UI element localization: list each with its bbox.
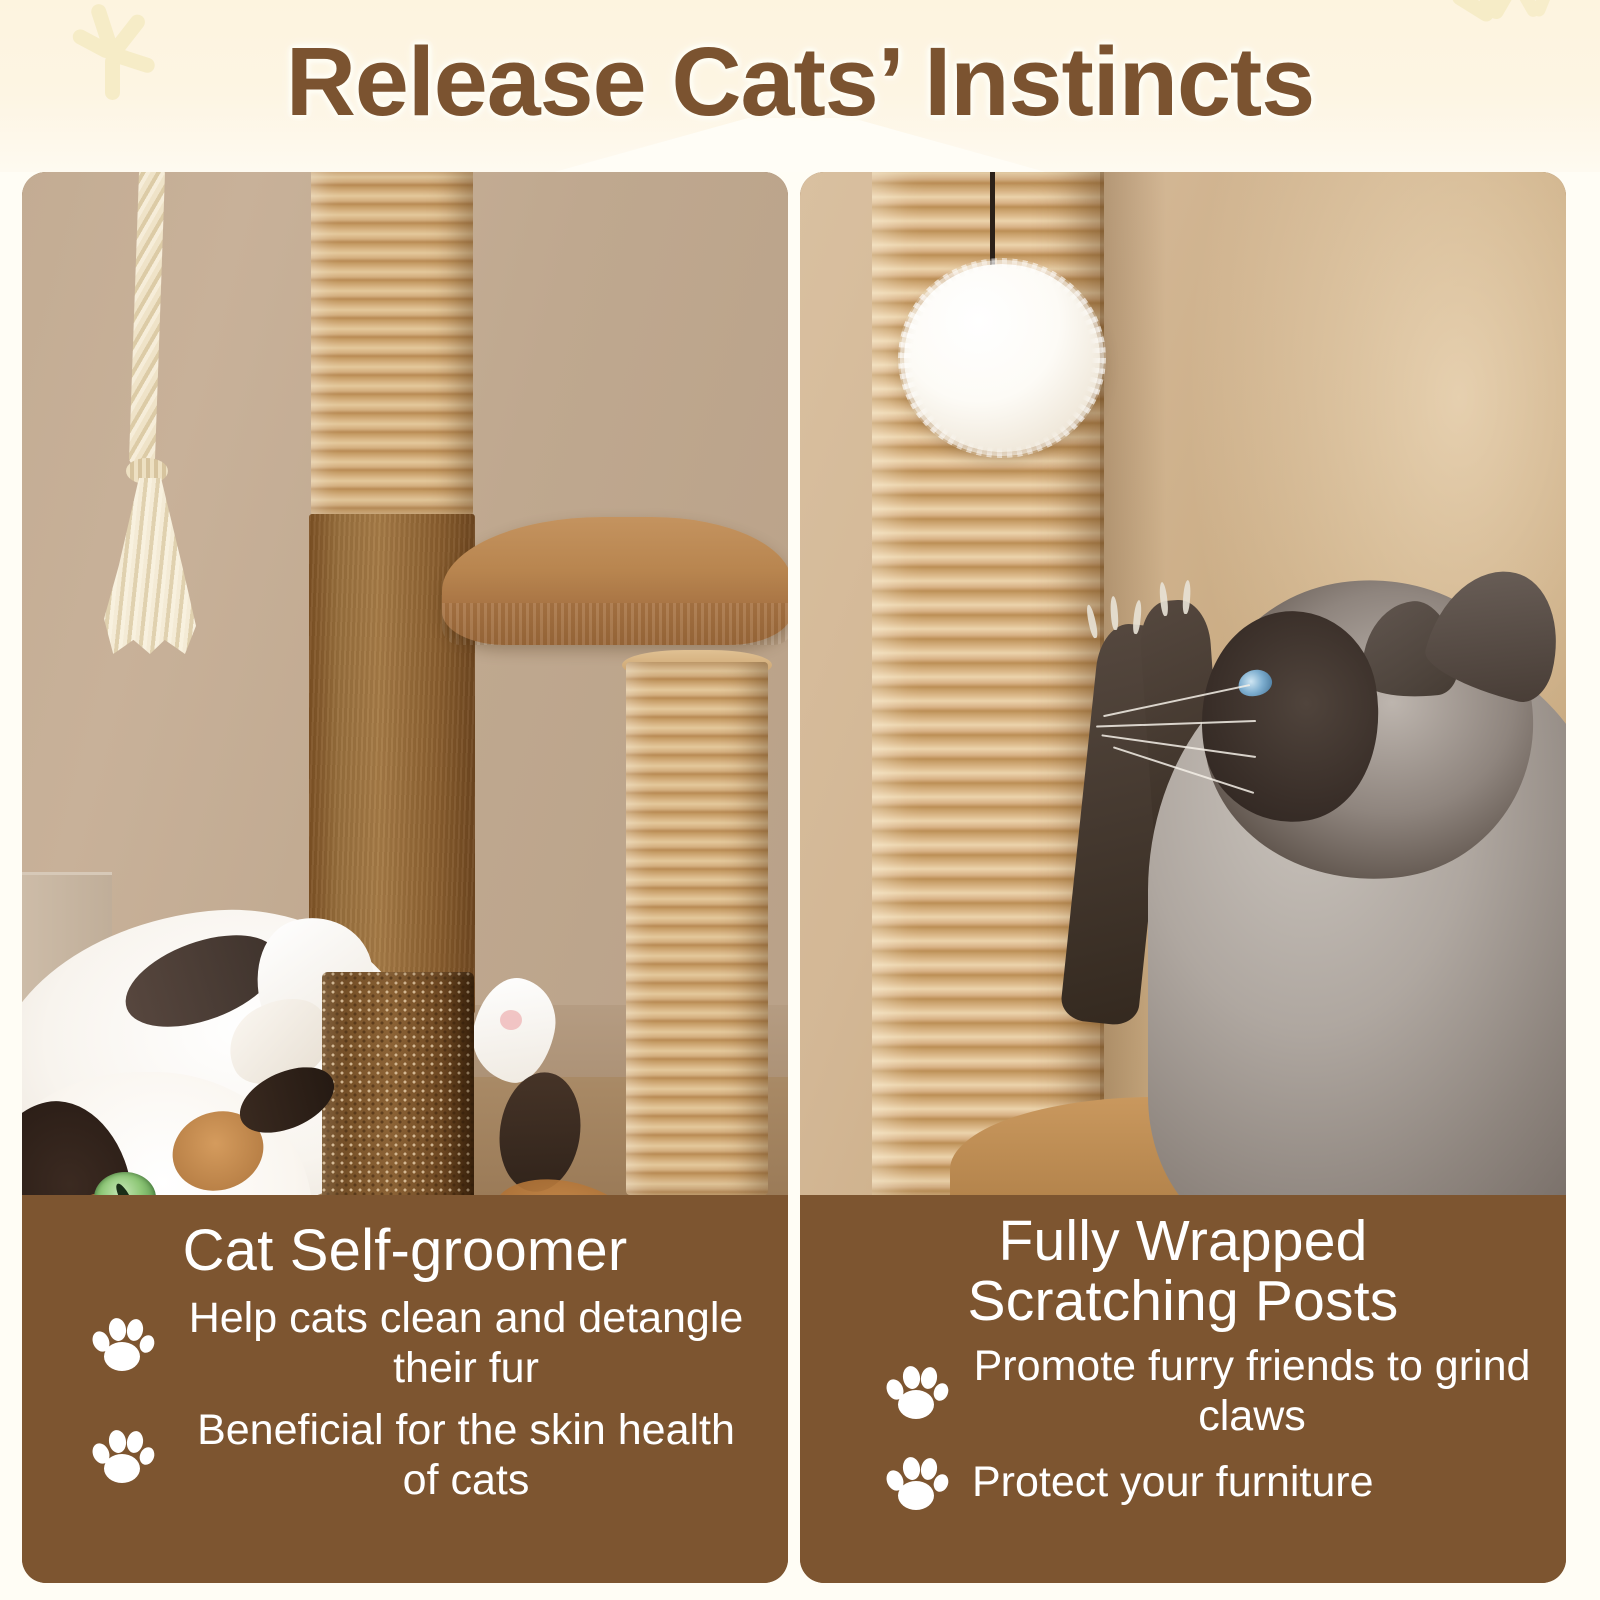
product-feature-banner: Release Cats’ Instincts: [0, 0, 1600, 1600]
sisal-post-upper: [311, 172, 473, 516]
caption-scratching-posts: Fully Wrapped Scratching Posts Promote f…: [800, 1195, 1566, 1583]
feature-panel-scratching-posts: Fully Wrapped Scratching Posts Promote f…: [800, 172, 1566, 1583]
paw-icon: [92, 1426, 152, 1484]
bullet-text: Help cats clean and detangle their fur: [178, 1293, 754, 1393]
photo-cat-self-groomer: [22, 172, 788, 1195]
caption-title: Cat Self-groomer: [22, 1195, 788, 1283]
bullet-text: Protect your furniture: [972, 1457, 1532, 1507]
paw-icon: [886, 1453, 946, 1511]
bullet-text: Beneficial for the skin health of cats: [178, 1405, 754, 1505]
photo-cat-scratching-post: [800, 172, 1566, 1195]
caption-bullet-list: Promote furry friends to grind claws Pro…: [800, 1341, 1566, 1511]
self-groomer-brush: [322, 972, 474, 1195]
list-item: Help cats clean and detangle their fur: [22, 1293, 788, 1393]
pompom-ball-toy: [904, 264, 1100, 452]
caption-title-line-2: Scratching Posts: [800, 1271, 1566, 1331]
caption-self-groomer: Cat Self-groomer Help cats clean and det…: [22, 1195, 788, 1583]
caption-title-line-1: Fully Wrapped: [800, 1211, 1566, 1271]
plush-platform: [442, 517, 788, 645]
page-title: Release Cats’ Instincts: [0, 22, 1600, 142]
list-item: Promote furry friends to grind claws: [800, 1341, 1566, 1441]
list-item: Protect your furniture: [800, 1453, 1566, 1511]
bullet-text: Promote furry friends to grind claws: [972, 1341, 1532, 1441]
banner-header: Release Cats’ Instincts: [0, 0, 1600, 172]
feature-panels: Cat Self-groomer Help cats clean and det…: [0, 172, 1600, 1584]
caption-bullet-list: Help cats clean and detangle their fur B…: [22, 1293, 788, 1505]
paw-icon: [92, 1314, 152, 1372]
list-item: Beneficial for the skin health of cats: [22, 1405, 788, 1505]
paw-icon: [886, 1362, 946, 1420]
feature-panel-self-groomer: Cat Self-groomer Help cats clean and det…: [22, 172, 788, 1583]
cat-paw-pad: [500, 1010, 522, 1030]
sisal-post-right: [626, 662, 768, 1195]
caption-title: Fully Wrapped Scratching Posts: [800, 1195, 1566, 1331]
